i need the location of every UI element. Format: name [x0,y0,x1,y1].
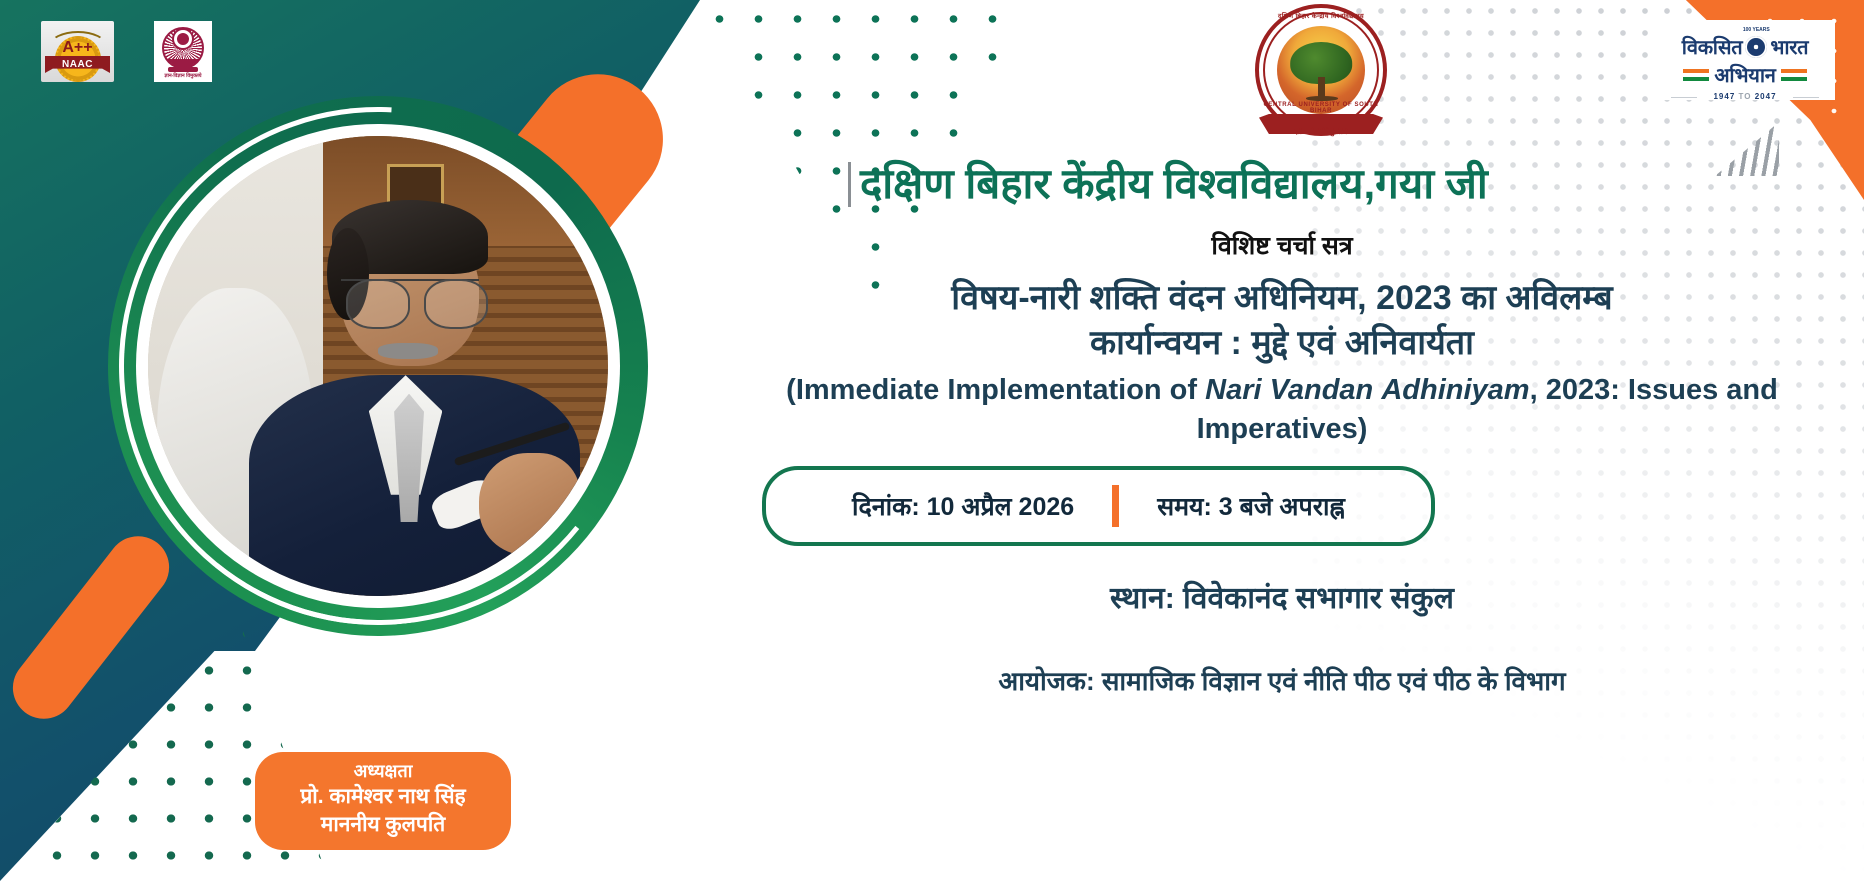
photo-glasses-left-lens [346,279,410,329]
photo-glasses-right-lens [424,279,488,329]
topic-english-italic-1: Nari Vandan [1205,374,1373,406]
topic-english-italic-2: Adhiniyam [1381,374,1529,406]
event-poster: अध्यक्षता प्रो. कामेश्वर नाथ सिंह माननीय… [0,0,1864,881]
naac-logo: A++ NAAC [41,21,114,82]
ugc-chakra-hub-icon [177,33,189,45]
title-accent-bar [848,162,851,207]
topic-hindi-line-2: कार्यान्वयन : मुद्दे एवं अनिवार्यता [700,321,1864,366]
date-time-box: दिनांक: 10 अप्रैल 2026 समय: 3 बजे अपराह्… [762,466,1435,546]
session-topic: विषय-नारी शक्ति वंदन अधिनियम, 2023 का अव… [700,276,1864,449]
naac-grade-label: A++ [62,40,92,56]
institution-title: दक्षिण बिहार केंद्रीय विश्वविद्यालय,गया … [860,162,1488,207]
date-time-divider [1112,485,1119,527]
chairperson-portrait [108,96,648,636]
event-date-label: दिनांक: 10 अप्रैल 2026 [852,489,1112,523]
topic-english-prefix: (Immediate Implementation of [786,374,1205,406]
chairperson-name-badge: अध्यक्षता प्रो. कामेश्वर नाथ सिंह माननीय… [255,752,511,850]
event-venue-label: स्थान: विवेकानंद सभागार संकुल [700,576,1864,617]
chairperson-photo [148,136,608,596]
institution-title-row: दक्षिण बिहार केंद्रीय विश्वविद्यालय,गया … [848,162,1488,207]
topic-hindi-line-1: विषय-नारी शक्ति वंदन अधिनियम, 2023 का अव… [700,276,1864,321]
photo-hand [479,453,580,554]
event-time-label: समय: 3 बजे अपराह्न [1119,489,1345,523]
chair-role-label: अध्यक्षता [269,760,497,783]
poster-text-content: दक्षिण बिहार केंद्रीय विश्वविद्यालय,गया … [700,0,1864,881]
session-subtitle: विशिष्ट चर्चा सत्र [700,228,1864,262]
event-organiser-label: आयोजक: सामाजिक विज्ञान एवं नीति पीठ एवं … [700,662,1864,698]
topic-english: (Immediate Implementation of Nari Vandan… [700,371,1864,448]
photo-moustache [378,343,438,359]
chair-designation-label: माननीय कुलपति [269,811,497,838]
ugc-logo: ज्ञान-विज्ञान विमुक्तये [154,21,212,82]
ugc-motto-label: ज्ञान-विज्ञान विमुक्तये [154,73,212,79]
ugc-base-bar-icon [168,67,198,72]
chair-name-label: प्रो. कामेश्वर नाथ सिंह [269,783,497,810]
